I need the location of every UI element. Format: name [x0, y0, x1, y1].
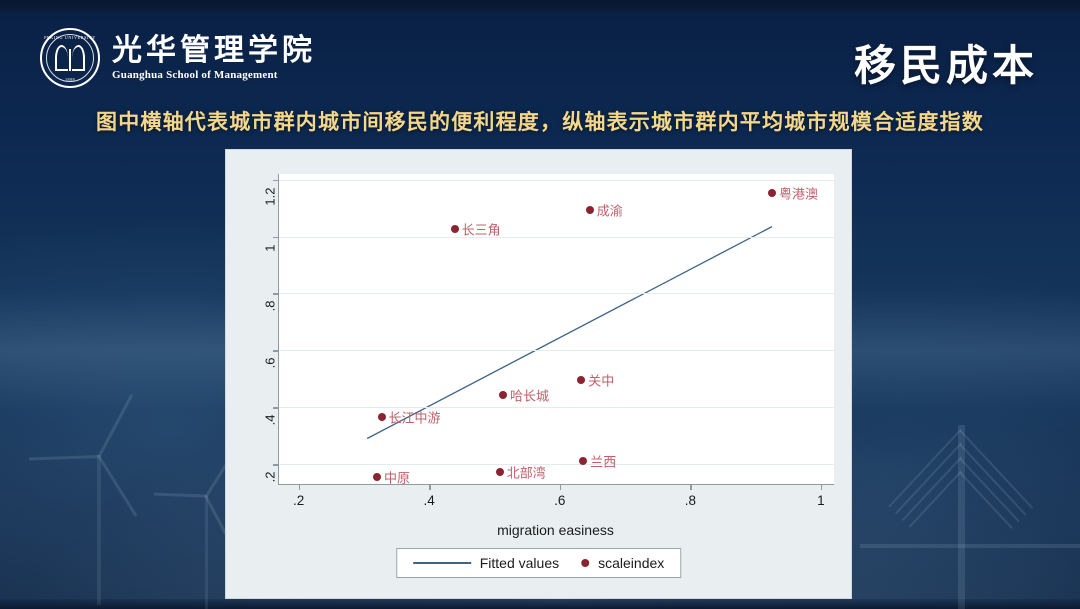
seal-bottom-text: 1898: [42, 77, 98, 82]
peking-university-seal-icon: PEKING UNIVERSITY 1898: [40, 28, 100, 88]
legend-item-fitted-values: Fitted values: [413, 555, 559, 571]
brand-name-cn: 光华管理学院: [112, 35, 316, 67]
scatter-point: [378, 413, 386, 421]
legend-label-fitted-values: Fitted values: [480, 555, 559, 571]
scatter-point: [579, 457, 587, 465]
scatter-plot-area: .2.4.6.811.2.2.4.6.81中原长江中游长三角北部湾哈长城兰西关中…: [278, 174, 834, 485]
y-axis-tick-label-holder: .2: [279, 464, 280, 465]
scatter-point-label: 兰西: [590, 452, 616, 471]
scatter-point: [373, 473, 381, 481]
y-axis-tick-label-holder: 1.2: [279, 180, 280, 181]
scatter-point: [768, 189, 776, 197]
gridline: [279, 350, 834, 351]
y-axis-tick-label: .2: [263, 472, 278, 483]
scatter-point-label: 北部湾: [507, 462, 546, 481]
legend-dot-icon: [581, 559, 589, 567]
scatter-point: [499, 391, 507, 399]
scatter-point-label: 长江中游: [389, 408, 441, 427]
y-axis-tick-label: .4: [263, 415, 278, 426]
scatter-point-label: 中原: [384, 467, 410, 486]
x-axis-tick: [299, 484, 301, 490]
y-axis-tick-label-holder: .8: [279, 293, 280, 294]
y-axis-tick-label-holder: 1: [279, 237, 280, 238]
x-axis-tick: [690, 484, 692, 490]
x-axis-title: migration easiness: [278, 522, 833, 538]
scatter-point: [586, 206, 594, 214]
gridline: [279, 293, 834, 294]
page-title: 移民成本: [854, 32, 1038, 93]
scatter-point: [451, 225, 459, 233]
x-axis-tick-label: .2: [293, 493, 304, 508]
x-axis-tick-label: .6: [554, 493, 565, 508]
x-axis-tick: [821, 484, 823, 490]
fitted-values-line: [279, 174, 834, 484]
y-axis-tick-label: .6: [263, 358, 278, 369]
x-axis-tick-label: .4: [424, 493, 435, 508]
scatter-point: [496, 468, 504, 476]
x-axis-tick-label: 1: [817, 493, 825, 508]
slide: PEKING UNIVERSITY 1898 光华管理学院 Guanghua S…: [0, 0, 1080, 609]
legend-item-scaleindex: scaleindex: [581, 555, 664, 571]
y-axis-tick-label-holder: .6: [279, 350, 280, 351]
x-axis-tick-label: .8: [685, 493, 696, 508]
brand-name-en: Guanghua School of Management: [112, 69, 316, 81]
legend-label-scaleindex: scaleindex: [598, 555, 664, 571]
chart-panel: .2.4.6.811.2.2.4.6.81中原长江中游长三角北部湾哈长城兰西关中…: [225, 149, 852, 599]
x-axis-tick: [429, 484, 431, 490]
seal-top-text: PEKING UNIVERSITY: [42, 35, 98, 40]
scatter-point-label: 关中: [588, 370, 614, 389]
legend-line-icon: [413, 562, 471, 564]
gridline: [279, 180, 834, 181]
top-band: [0, 0, 1080, 12]
y-axis-tick-label: 1: [263, 244, 278, 251]
x-axis-tick: [560, 484, 562, 490]
scatter-point-label: 哈长城: [510, 385, 549, 404]
scatter-point: [577, 376, 585, 384]
gridline: [279, 464, 834, 465]
chart-legend: Fitted values scaleindex: [396, 548, 682, 578]
gridline: [279, 237, 834, 238]
y-axis-tick-label: .8: [263, 301, 278, 312]
slide-subtitle: 图中横轴代表城市群内城市间移民的便利程度，纵轴表示城市群内平均城市规模合适度指数: [0, 106, 1080, 136]
scatter-point-label: 粤港澳: [779, 184, 818, 203]
gridline: [279, 407, 834, 408]
scatter-point-label: 成渝: [597, 201, 623, 220]
y-axis-tick-label: 1.2: [263, 187, 278, 205]
y-axis-tick-label-holder: .4: [279, 407, 280, 408]
scatter-point-label: 长三角: [462, 219, 501, 238]
brand-logo: PEKING UNIVERSITY 1898 光华管理学院 Guanghua S…: [40, 28, 316, 88]
bottom-band: [0, 599, 1080, 609]
